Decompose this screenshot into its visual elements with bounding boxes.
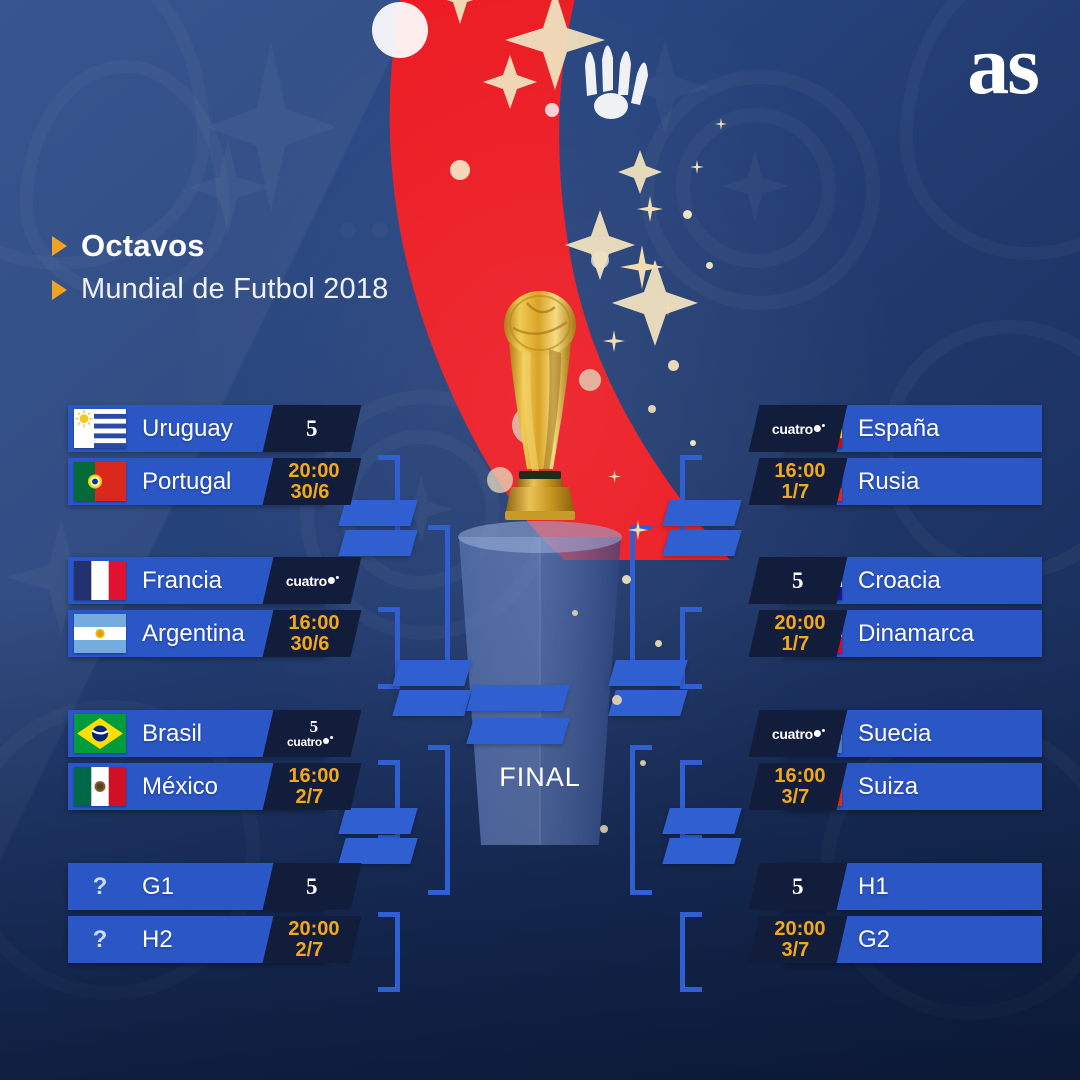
- match-time: 20:00: [289, 461, 340, 482]
- match-row-top[interactable]: Francia cuatro: [68, 557, 326, 604]
- as-logo: as: [967, 26, 1038, 106]
- unknown-team-icon: ?: [74, 867, 126, 906]
- telecinco-icon: 5: [309, 718, 318, 735]
- team-name: Uruguay: [142, 415, 233, 443]
- channel-badge: 5 cuatro: [263, 710, 362, 757]
- match-time: 20:00: [289, 919, 340, 940]
- match-row-bottom[interactable]: ? H2 20:00 2/7: [68, 916, 326, 963]
- team-name: G1: [142, 873, 174, 901]
- team-name: Rusia: [858, 468, 919, 496]
- match-time-badge: 20:00 1/7: [749, 610, 848, 657]
- triangle-right-icon: [52, 280, 67, 300]
- match-time-badge: 20:00 30/6: [263, 458, 362, 505]
- match-row-top[interactable]: Uruguay 5: [68, 405, 326, 452]
- match-row-top[interactable]: ? G1 5: [68, 863, 326, 910]
- uruguay-flag: [74, 409, 126, 448]
- channel-badge: cuatro: [749, 710, 848, 757]
- title-line-2: Mundial de Futbol 2018: [81, 273, 389, 306]
- world-cup-trophy-icon: [487, 283, 593, 528]
- team-name: H1: [858, 873, 889, 901]
- match-time: 20:00: [775, 919, 826, 940]
- match-time-badge: 20:00 3/7: [749, 916, 848, 963]
- match-card[interactable]: ? G1 5 ? H2 20:00 2/7: [68, 863, 326, 969]
- brazil-flag: [74, 714, 126, 753]
- match-row-bottom[interactable]: Rusia 16:00 1/7: [784, 458, 1042, 505]
- match-row-bottom[interactable]: Argentina 16:00 30/6: [68, 610, 326, 657]
- team-name: Francia: [142, 567, 222, 595]
- telecinco-icon: 5: [306, 417, 318, 440]
- team-name: España: [858, 415, 939, 443]
- match-time-badge: 16:00 1/7: [749, 458, 848, 505]
- match-time-badge: 20:00 2/7: [263, 916, 362, 963]
- channel-badge: cuatro: [263, 557, 362, 604]
- team-name: Dinamarca: [858, 620, 974, 648]
- team-name: Argentina: [142, 620, 245, 648]
- telecinco-icon: 5: [792, 875, 804, 898]
- match-card[interactable]: ? H1 5 ? G2 20:00 3/7: [784, 863, 1042, 969]
- match-time: 16:00: [289, 613, 340, 634]
- match-date: 2/7: [296, 940, 324, 961]
- triangle-right-icon: [52, 236, 67, 256]
- match-time: 16:00: [775, 461, 826, 482]
- title-line-1: Octavos: [81, 228, 205, 264]
- match-card[interactable]: Francia cuatro Argentina 16:00 30/6: [68, 557, 326, 663]
- match-date: 3/7: [782, 940, 810, 961]
- match-card[interactable]: Croacia 5 Dinamarca 20:00 1/7: [784, 557, 1042, 663]
- channel-badge: 5: [749, 863, 848, 910]
- team-name: Croacia: [858, 567, 941, 595]
- match-row-top[interactable]: ? H1 5: [784, 863, 1042, 910]
- trophy-pedestal: [449, 515, 631, 845]
- channel-badge: 5: [749, 557, 848, 604]
- channel-badge: 5: [263, 863, 362, 910]
- cuatro-icon: cuatro: [287, 735, 333, 749]
- page-title: Octavos Mundial de Futbol 2018: [52, 228, 389, 306]
- team-name: Suecia: [858, 720, 931, 748]
- match-time: 20:00: [775, 613, 826, 634]
- match-date: 1/7: [782, 482, 810, 503]
- telecinco-icon: 5: [306, 875, 318, 898]
- cuatro-icon: cuatro: [772, 421, 825, 437]
- match-date: 30/6: [290, 634, 329, 655]
- team-name: Portugal: [142, 468, 231, 496]
- france-flag: [74, 561, 126, 600]
- match-date: 1/7: [782, 634, 810, 655]
- unknown-team-icon: ?: [74, 920, 126, 959]
- match-date: 30/6: [290, 482, 329, 503]
- match-row-top[interactable]: España cuatro: [784, 405, 1042, 452]
- match-row-top[interactable]: Brasil 5 cuatro: [68, 710, 326, 757]
- match-time-badge: 16:00 30/6: [263, 610, 362, 657]
- match-card[interactable]: España cuatro Rusia 16:00 1/7: [784, 405, 1042, 511]
- telecinco-icon: 5: [792, 569, 804, 592]
- team-name: Brasil: [142, 720, 202, 748]
- cuatro-icon: cuatro: [772, 726, 825, 742]
- team-name: H2: [142, 926, 173, 954]
- channel-badge: 5: [263, 405, 362, 452]
- match-card[interactable]: Uruguay 5 Portugal 20:00 30/6: [68, 405, 326, 511]
- team-name: G2: [858, 926, 890, 954]
- match-row-bottom[interactable]: Dinamarca 20:00 1/7: [784, 610, 1042, 657]
- match-row-top[interactable]: Croacia 5: [784, 557, 1042, 604]
- match-row-bottom[interactable]: Portugal 20:00 30/6: [68, 458, 326, 505]
- match-row-bottom[interactable]: ? G2 20:00 3/7: [784, 916, 1042, 963]
- portugal-flag: [74, 462, 126, 501]
- bracket-infographic: FINAL Octavos Mundial de Futbol 2018 as: [0, 0, 1080, 1080]
- match-row-top[interactable]: Suecia cuatro: [784, 710, 1042, 757]
- argentina-flag: [74, 614, 126, 653]
- cuatro-icon: cuatro: [286, 573, 339, 589]
- channel-badge: cuatro: [749, 405, 848, 452]
- final-label: FINAL: [0, 762, 1080, 793]
